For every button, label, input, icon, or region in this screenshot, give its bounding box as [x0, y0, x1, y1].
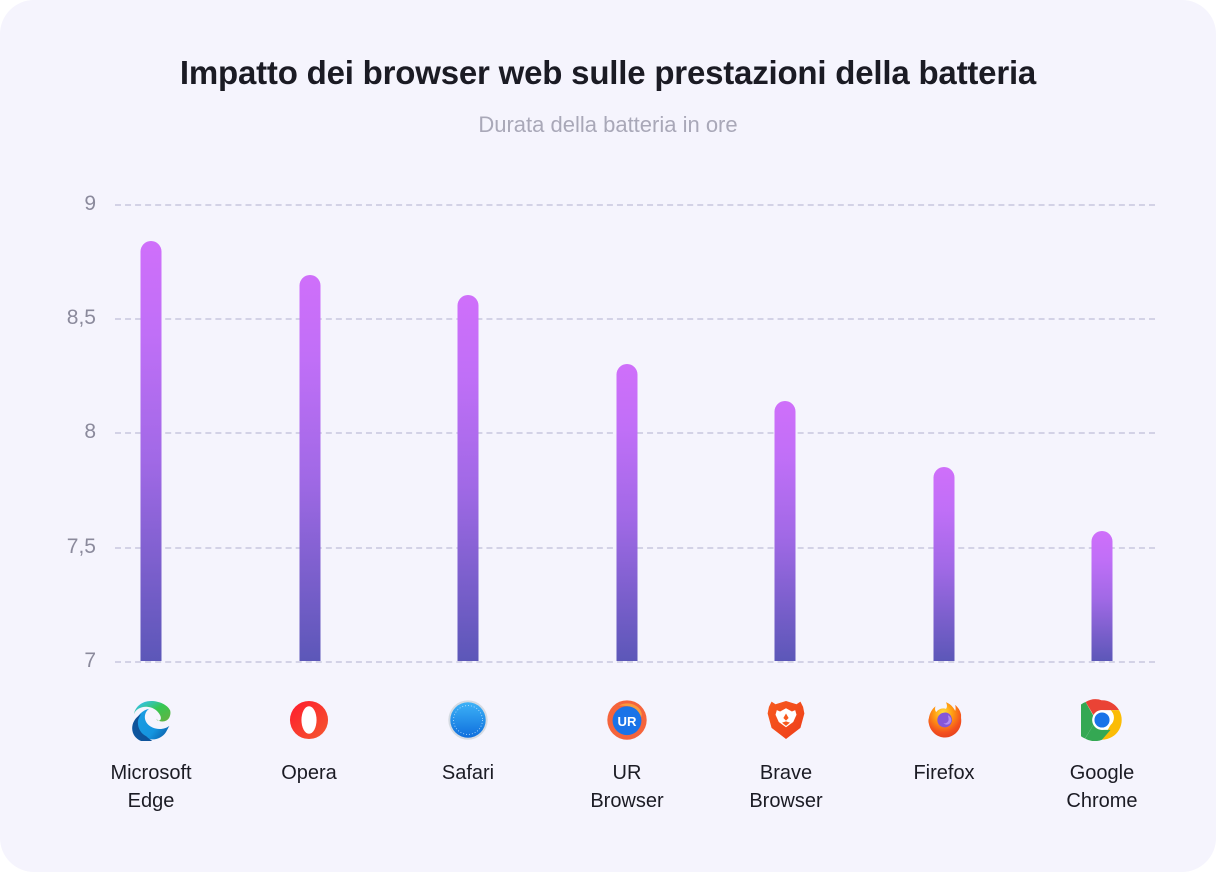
x-category-label: UR Browser — [552, 759, 702, 815]
bar-safari[interactable] — [458, 295, 479, 661]
firefox-icon — [923, 699, 965, 741]
y-tick-label-9: 9 — [40, 192, 96, 216]
y-tick-label-8: 8 — [40, 420, 96, 444]
chart-card: Impatto dei browser web sulle prestazion… — [0, 0, 1216, 872]
x-category-microsoft-edge[interactable]: Microsoft Edge — [76, 661, 226, 815]
x-category-ur-browser[interactable]: UR UR Browser — [552, 661, 702, 815]
brave-browser-icon — [765, 699, 807, 741]
page-title: Impatto dei browser web sulle prestazion… — [0, 54, 1216, 92]
bar-google-chrome[interactable] — [1092, 531, 1113, 661]
bar-microsoft-edge[interactable] — [141, 241, 162, 661]
ur-browser-icon: UR — [606, 699, 648, 741]
x-category-label: Microsoft Edge — [76, 759, 226, 815]
bar-brave-browser[interactable] — [775, 401, 796, 661]
svg-text:UR: UR — [618, 714, 637, 729]
bar-ur-browser[interactable] — [616, 364, 637, 661]
gridline-85 — [115, 318, 1155, 320]
x-category-label: Google Chrome — [1027, 759, 1177, 815]
x-category-label: Opera — [234, 759, 384, 787]
y-tick-label-75: 7,5 — [40, 535, 96, 559]
x-category-firefox[interactable]: Firefox — [869, 661, 1019, 787]
x-category-safari[interactable]: Safari — [393, 661, 543, 787]
x-category-label: Brave Browser — [711, 759, 861, 815]
bar-opera[interactable] — [299, 275, 320, 661]
opera-icon — [288, 699, 330, 741]
plot-area — [115, 204, 1155, 661]
x-category-label: Firefox — [869, 759, 1019, 787]
y-tick-label-85: 8,5 — [40, 306, 96, 330]
x-category-label: Safari — [393, 759, 543, 787]
bar-firefox[interactable] — [933, 467, 954, 661]
microsoft-edge-icon — [130, 699, 172, 741]
x-category-opera[interactable]: Opera — [234, 661, 384, 787]
x-category-google-chrome[interactable]: Google Chrome — [1027, 661, 1177, 815]
x-category-brave-browser[interactable]: Brave Browser — [711, 661, 861, 815]
x-axis: Microsoft Edge Opera — [0, 661, 1216, 872]
safari-icon — [447, 699, 489, 741]
google-chrome-icon — [1081, 699, 1123, 741]
gridline-9 — [115, 204, 1155, 206]
chart-subtitle: Durata della batteria in ore — [0, 112, 1216, 138]
